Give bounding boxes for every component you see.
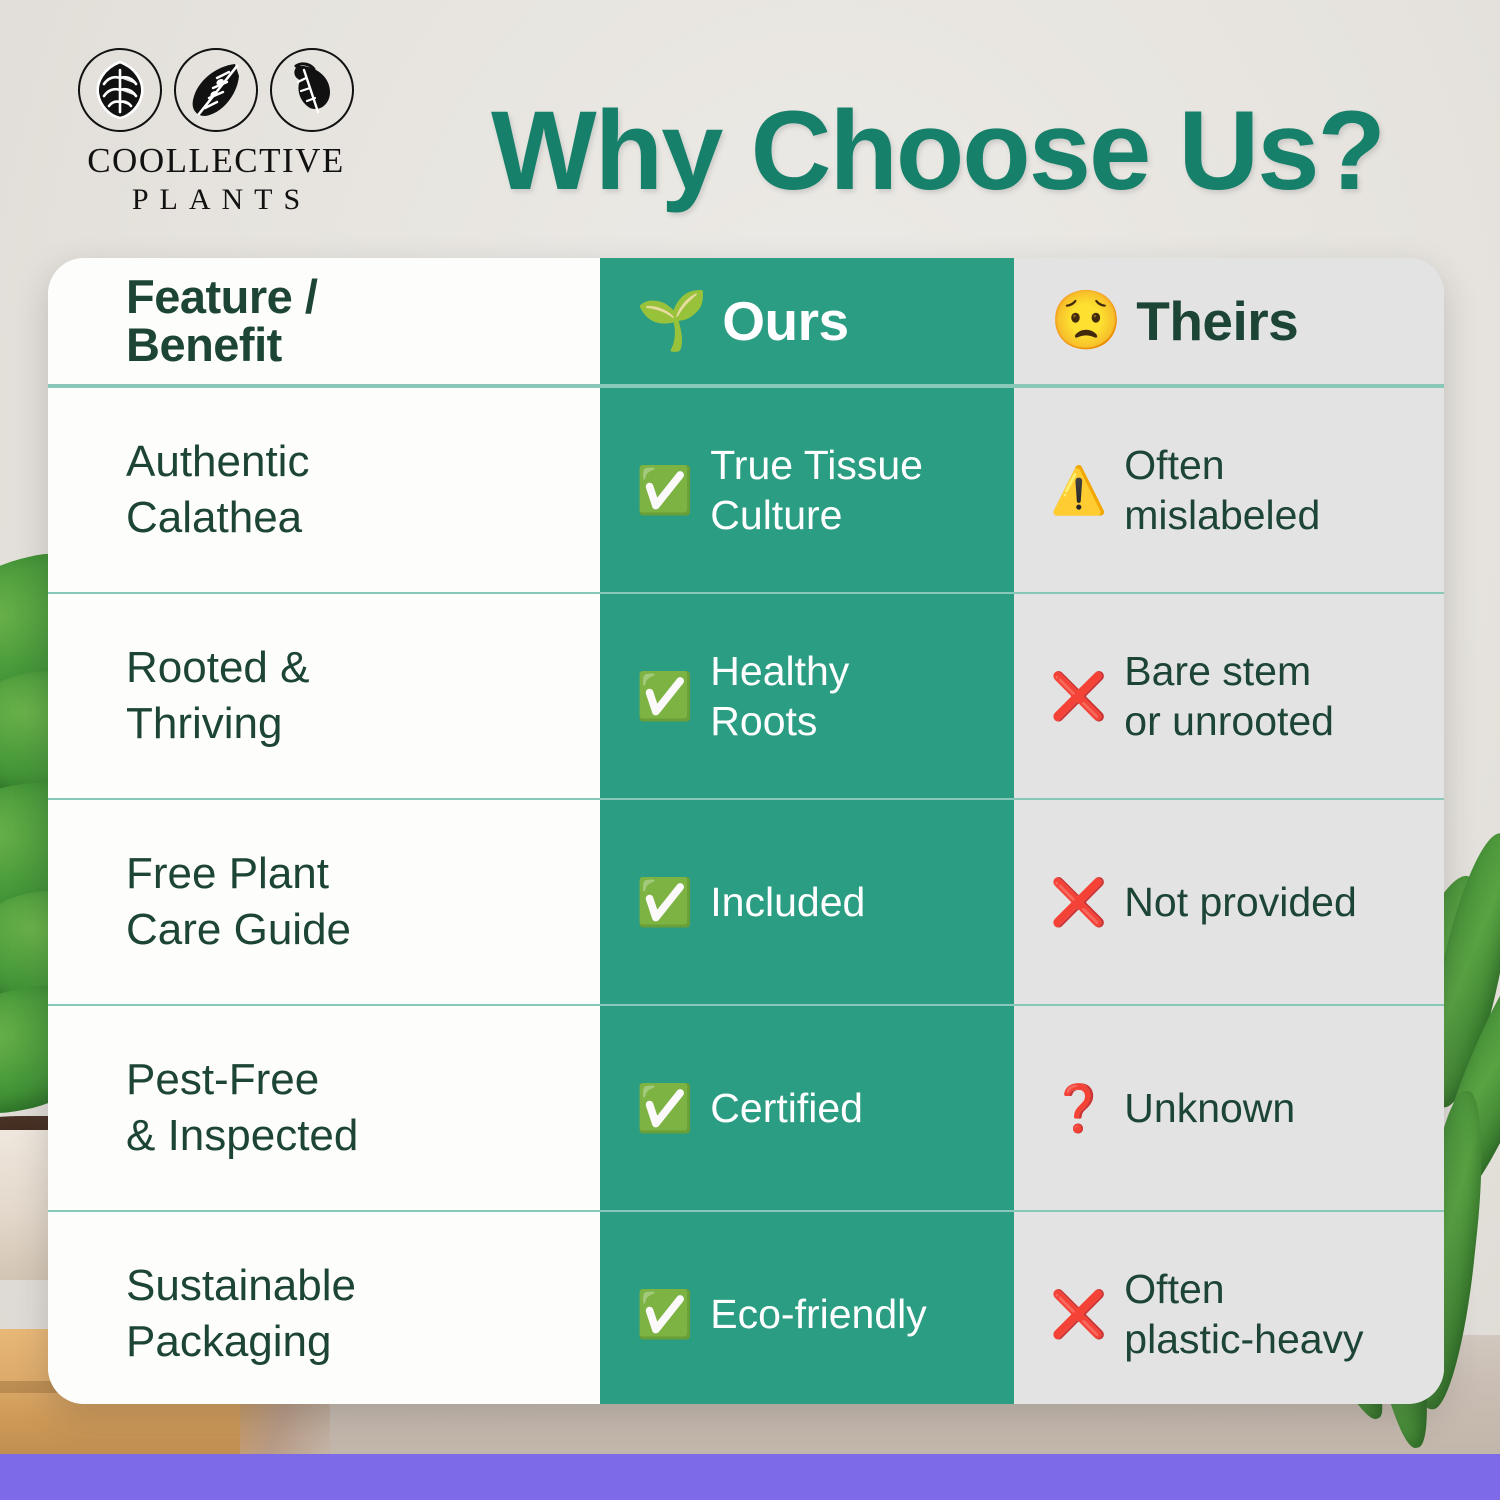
theirs-value: Often mislabeled <box>1124 440 1320 540</box>
logo-icon-row <box>66 48 366 132</box>
bottom-purple-bar <box>0 1454 1500 1500</box>
warning-triangle-icon: ⚠️ <box>1050 467 1107 513</box>
table-row: Rooted & Thriving ✅ Healthy Roots ❌ Bare… <box>48 592 1444 798</box>
check-mark-icon: ✅ <box>636 673 693 719</box>
feature-label: Authentic Calathea <box>126 434 309 546</box>
monstera-leaf-icon <box>174 48 258 132</box>
row-ours-cell: ✅ Healthy Roots <box>600 594 1014 798</box>
check-mark-icon: ✅ <box>636 879 693 925</box>
row-ours-cell: ✅ Included <box>600 800 1014 1004</box>
header-feature-label: Feature / Benefit <box>126 273 317 370</box>
cross-mark-icon: ❌ <box>1050 879 1107 925</box>
row-feature-cell: Rooted & Thriving <box>48 594 600 798</box>
feature-label: Sustainable Packaging <box>126 1258 356 1370</box>
theirs-value: Often plastic-heavy <box>1124 1264 1363 1364</box>
row-theirs-cell: ❌ Often plastic-heavy <box>1014 1212 1444 1404</box>
ours-value: Certified <box>710 1083 863 1133</box>
row-feature-cell: Free Plant Care Guide <box>48 800 600 1004</box>
ours-value: Healthy Roots <box>710 646 849 746</box>
ours-value: Eco-friendly <box>710 1289 926 1339</box>
row-theirs-cell: ❌ Not provided <box>1014 800 1444 1004</box>
row-feature-cell: Pest-Free & Inspected <box>48 1006 600 1210</box>
brand-subtitle: PLANTS <box>66 183 366 217</box>
page-title: Why Choose Us? <box>405 86 1470 215</box>
row-theirs-cell: ⚠️ Often mislabeled <box>1014 388 1444 592</box>
feature-label: Pest-Free & Inspected <box>126 1052 358 1164</box>
table-row: Authentic Calathea ✅ True Tissue Culture… <box>48 386 1444 592</box>
brand-logo: COOLLECTIVE PLANTS <box>66 48 366 217</box>
comparison-table-card: Feature / Benefit 🌱 Ours 😟 Theirs Authen… <box>48 258 1444 1404</box>
cross-mark-icon: ❌ <box>1050 1291 1107 1337</box>
theirs-value: Bare stem or unrooted <box>1124 646 1334 746</box>
header-cell-ours: 🌱 Ours <box>600 258 1014 384</box>
seedling-icon: 🌱 <box>636 292 708 350</box>
theirs-value: Not provided <box>1124 877 1356 927</box>
row-feature-cell: Authentic Calathea <box>48 388 600 592</box>
alocasia-leaf-icon <box>78 48 162 132</box>
table-row: Free Plant Care Guide ✅ Included ❌ Not p… <box>48 798 1444 1004</box>
feature-label: Rooted & Thriving <box>126 640 309 752</box>
header-theirs-label: Theirs <box>1136 289 1298 353</box>
check-mark-icon: ✅ <box>636 1085 693 1131</box>
table-row: Sustainable Packaging ✅ Eco-friendly ❌ O… <box>48 1210 1444 1404</box>
table-header-row: Feature / Benefit 🌱 Ours 😟 Theirs <box>48 258 1444 386</box>
row-theirs-cell: ❓ Unknown <box>1014 1006 1444 1210</box>
table-row: Pest-Free & Inspected ✅ Certified ❓ Unkn… <box>48 1004 1444 1210</box>
header-ours-label: Ours <box>722 289 848 353</box>
ours-value: True Tissue Culture <box>710 440 923 540</box>
row-ours-cell: ✅ True Tissue Culture <box>600 388 1014 592</box>
feature-label: Free Plant Care Guide <box>126 846 351 958</box>
brand-name: COOLLECTIVE <box>66 141 366 181</box>
question-mark-icon: ❓ <box>1050 1085 1107 1131</box>
worried-face-icon: 😟 <box>1050 292 1122 350</box>
row-feature-cell: Sustainable Packaging <box>48 1212 600 1404</box>
check-mark-icon: ✅ <box>636 467 693 513</box>
philodendron-leaf-icon <box>270 48 354 132</box>
header-cell-feature: Feature / Benefit <box>48 258 600 384</box>
header-cell-theirs: 😟 Theirs <box>1014 258 1444 384</box>
ours-value: Included <box>710 877 865 927</box>
cross-mark-icon: ❌ <box>1050 673 1107 719</box>
check-mark-icon: ✅ <box>636 1291 693 1337</box>
row-theirs-cell: ❌ Bare stem or unrooted <box>1014 594 1444 798</box>
row-ours-cell: ✅ Certified <box>600 1006 1014 1210</box>
row-ours-cell: ✅ Eco-friendly <box>600 1212 1014 1404</box>
theirs-value: Unknown <box>1124 1083 1295 1133</box>
